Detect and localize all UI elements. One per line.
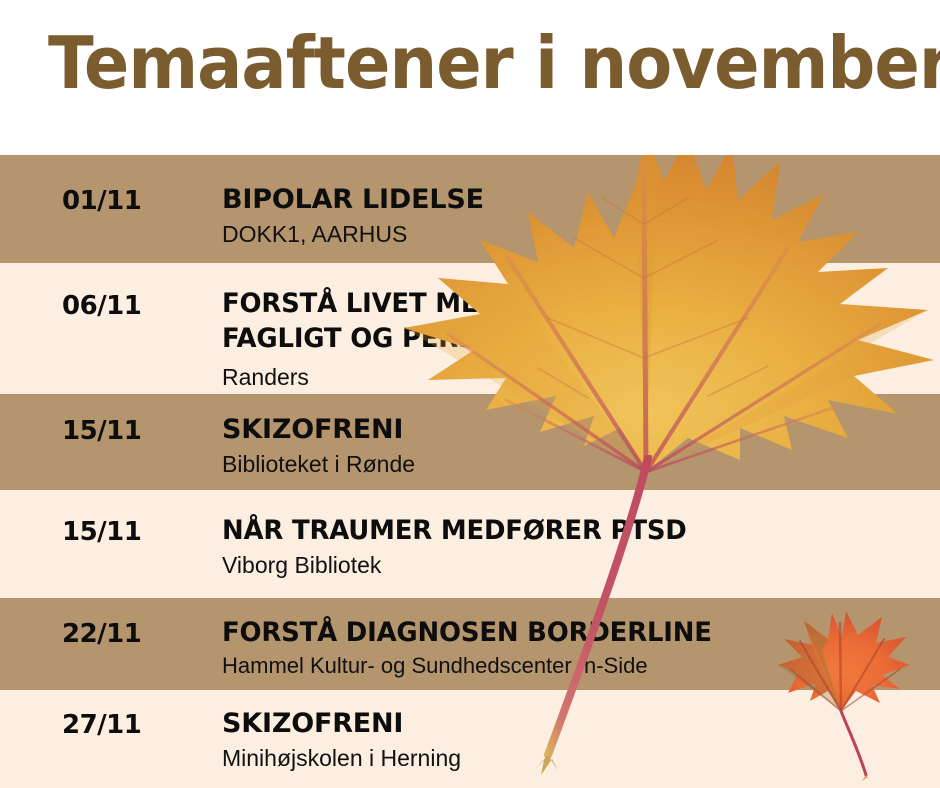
title-area: Temaaftener i november [0,0,940,155]
event-row: 15/11 SKIZOFRENI Biblioteket i Rønde [0,394,940,490]
poster-canvas: 01/11 BIPOLAR LIDELSE DOKK1, AARHUS 06/1… [0,0,940,788]
event-row: 22/11 FORSTÅ DIAGNOSEN BORDERLINE Hammel… [0,598,940,690]
event-venue: Hammel Kultur- og Sundhedscenter In-Side [222,653,648,679]
event-title: SKIZOFRENI [222,707,403,742]
event-title: SKIZOFRENI [222,413,403,448]
event-row: 27/11 SKIZOFRENI Minihøjskolen i Herning [0,690,940,788]
event-title: BIPOLAR LIDELSE [222,183,484,218]
event-row: 01/11 BIPOLAR LIDELSE DOKK1, AARHUS [0,155,940,263]
event-date: 06/11 [62,291,141,321]
event-date: 15/11 [62,517,141,547]
event-row: 15/11 NÅR TRAUMER MEDFØRER PTSD Viborg B… [0,490,940,598]
event-row: 06/11 FORSTÅ LIVET MED AUTISME UD FRA ET… [0,263,940,394]
event-date: 22/11 [62,619,141,649]
event-venue: Viborg Bibliotek [222,552,381,579]
event-title: FORSTÅ LIVET MED AUTISME UD FRA ET FAGLI… [222,287,798,356]
event-venue: Biblioteket i Rønde [222,451,415,478]
event-venue: DOKK1, AARHUS [222,221,407,248]
event-date: 01/11 [62,186,141,216]
page-title: Temaaftener i november [48,26,940,102]
event-title: NÅR TRAUMER MEDFØRER PTSD [222,514,687,549]
event-date: 15/11 [62,416,141,446]
event-venue: Minihøjskolen i Herning [222,745,461,772]
event-date: 27/11 [62,710,141,740]
event-venue: Randers [222,364,309,391]
event-title: FORSTÅ DIAGNOSEN BORDERLINE [222,616,712,651]
